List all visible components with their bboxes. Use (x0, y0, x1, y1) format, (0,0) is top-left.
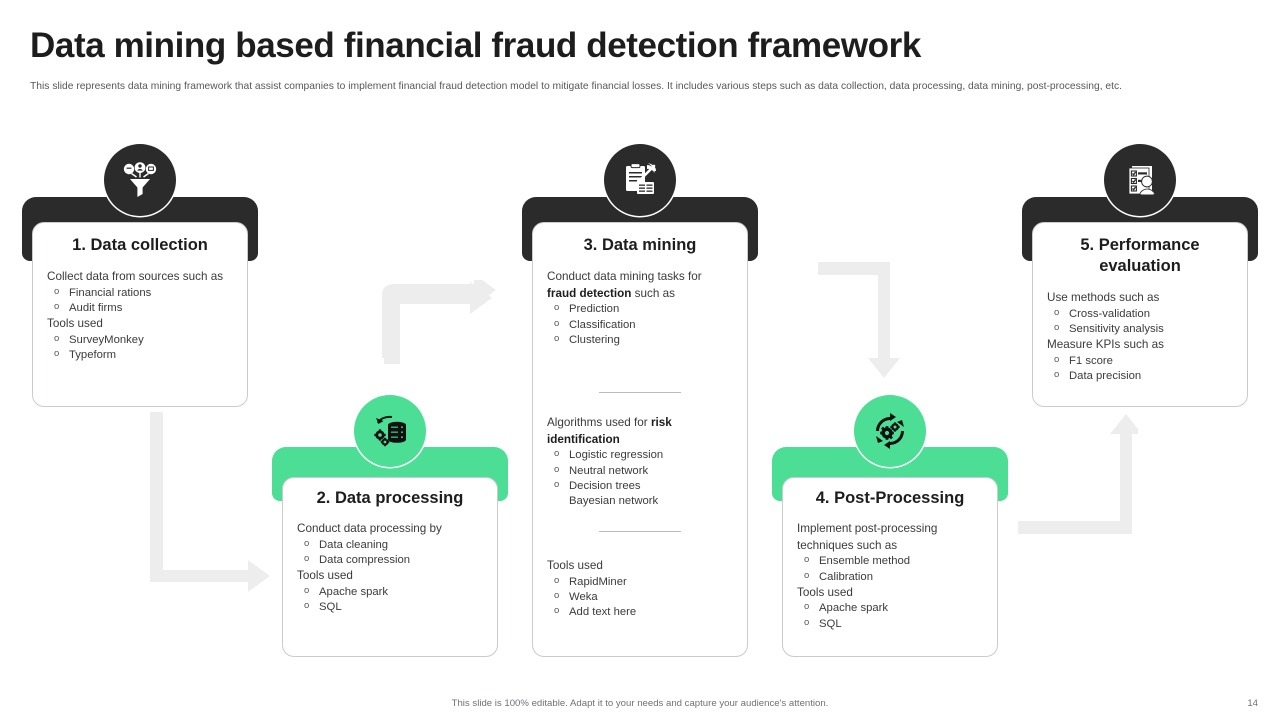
list-item: Prediction (547, 302, 733, 317)
arrow-step3-to-step4 (818, 262, 914, 378)
list-item: SurveyMonkey (47, 333, 233, 348)
list-item: Classification (547, 318, 733, 333)
step-3-list-3: RapidMiner Weka Add text here (547, 575, 733, 621)
step-2-body: Conduct data processing by Data cleaning… (283, 509, 497, 615)
list-item: Cross-validation (1047, 307, 1233, 322)
list-item: Decision trees (547, 479, 733, 494)
step-3-card[interactable]: 3. Data mining Conduct data mining tasks… (532, 222, 748, 657)
list-item: Neutral network (547, 464, 733, 479)
step-1[interactable]: 1. Data collection Collect data from sou… (22, 197, 258, 407)
step-1-lead-2: Tools used (47, 316, 233, 333)
step-2-title: 2. Data processing (283, 478, 497, 509)
list-item: Sensitivity analysis (1047, 322, 1233, 337)
list-item: Clustering (547, 333, 733, 348)
list-item: Apache spark (797, 601, 983, 616)
arrow-step4-to-step5 (1018, 414, 1138, 534)
list-item: Data precision (1047, 369, 1233, 384)
step-2-lead-2: Tools used (297, 568, 483, 585)
funnel-filter-icon (120, 160, 160, 200)
list-item: Data cleaning (297, 538, 483, 553)
step-5-list-1: Cross-validation Sensitivity analysis (1047, 307, 1233, 338)
list-item: Add text here (547, 605, 733, 620)
list-item: SQL (297, 600, 483, 615)
step-1-list-1: Financial rations Audit firms (47, 286, 233, 317)
step-4-list-2: Apache spark SQL (797, 601, 983, 632)
list-item: Logistic regression (547, 448, 733, 463)
list-item: Audit firms (47, 301, 233, 316)
step-2-card[interactable]: 2. Data processing Conduct data processi… (282, 477, 498, 657)
step-2-icon-circle (354, 395, 426, 467)
step-4-title: 4. Post-Processing (783, 478, 997, 509)
step-2[interactable]: 2. Data processing Conduct data processi… (272, 447, 508, 657)
list-item: Apache spark (297, 585, 483, 600)
step-2-list-2: Apache spark SQL (297, 585, 483, 616)
step-5-icon-circle (1104, 144, 1176, 216)
arrow-step1-to-step2 (150, 412, 270, 592)
step-1-lead-1: Collect data from sources such as (47, 269, 233, 286)
step-1-list-2: SurveyMonkey Typeform (47, 333, 233, 364)
step-4-icon-circle (854, 395, 926, 467)
step-5-lead-2: Measure KPIs such as (1047, 337, 1233, 354)
list-item: RapidMiner (547, 575, 733, 590)
step-1-card[interactable]: 1. Data collection Collect data from sou… (32, 222, 248, 407)
list-item: Ensemble method (797, 554, 983, 569)
step-4-card[interactable]: 4. Post-Processing Implement post-proces… (782, 477, 998, 657)
step-1-icon-circle (104, 144, 176, 216)
step-3-lead-2: Algorithms used for risk identification (547, 415, 733, 448)
step-3[interactable]: 3. Data mining Conduct data mining tasks… (522, 197, 758, 657)
step-3-divider-1 (599, 392, 681, 393)
list-item: Weka (547, 590, 733, 605)
step-3-title: 3. Data mining (533, 223, 747, 256)
step-5-lead-1: Use methods such as (1047, 290, 1233, 307)
page-number: 14 (1247, 698, 1258, 709)
list-item: Calibration (797, 570, 983, 585)
step-4-lead-1: Implement post-processing techniques suc… (797, 521, 983, 554)
arrow-step1-to-step3 (378, 280, 496, 364)
step-5-card[interactable]: 5. Performance evaluation Use methods su… (1032, 222, 1248, 407)
step-2-list-1: Data cleaning Data compression (297, 538, 483, 569)
step-5-body: Use methods such as Cross-validation Sen… (1033, 277, 1247, 384)
step-5-title: 5. Performance evaluation (1033, 223, 1247, 277)
list-item: F1 score (1047, 354, 1233, 369)
step-4-body: Implement post-processing techniques suc… (783, 509, 997, 632)
step-5[interactable]: 5. Performance evaluation Use methods su… (1022, 197, 1258, 407)
step-1-body: Collect data from sources such as Financ… (33, 256, 247, 363)
step-3-list-2: Logistic regression Neutral network Deci… (547, 448, 733, 509)
list-item-extra: Bayesian network (547, 494, 733, 509)
step-3-icon-circle (604, 144, 676, 216)
step-3-body: Conduct data mining tasks for fraud dete… (533, 256, 747, 621)
step-4-lead-2: Tools used (797, 585, 983, 602)
step-1-title: 1. Data collection (33, 223, 247, 256)
step-4-list-1: Ensemble method Calibration (797, 554, 983, 585)
clipboard-pickaxe-icon (620, 160, 660, 200)
list-item: SQL (797, 617, 983, 632)
step-4[interactable]: 4. Post-Processing Implement post-proces… (772, 447, 1008, 657)
page-title: Data mining based financial fraud detect… (30, 26, 921, 66)
list-item: Typeform (47, 348, 233, 363)
list-item: Data compression (297, 553, 483, 568)
step-2-lead-1: Conduct data processing by (297, 521, 483, 538)
list-item: Financial rations (47, 286, 233, 301)
slide-root: Data mining based financial fraud detect… (0, 0, 1280, 720)
step-3-divider-2 (599, 531, 681, 532)
database-gears-icon (370, 411, 410, 451)
step-3-lead-3: Tools used (547, 558, 733, 575)
checklist-person-icon (1120, 160, 1160, 200)
footer-note: This slide is 100% editable. Adapt it to… (0, 698, 1280, 709)
step-3-lead-1: Conduct data mining tasks for fraud dete… (547, 269, 733, 302)
gears-cycle-icon (870, 411, 910, 451)
step-3-list-1: Prediction Classification Clustering (547, 302, 733, 348)
step-5-list-2: F1 score Data precision (1047, 354, 1233, 385)
page-subtitle: This slide represents data mining framew… (30, 80, 1225, 95)
